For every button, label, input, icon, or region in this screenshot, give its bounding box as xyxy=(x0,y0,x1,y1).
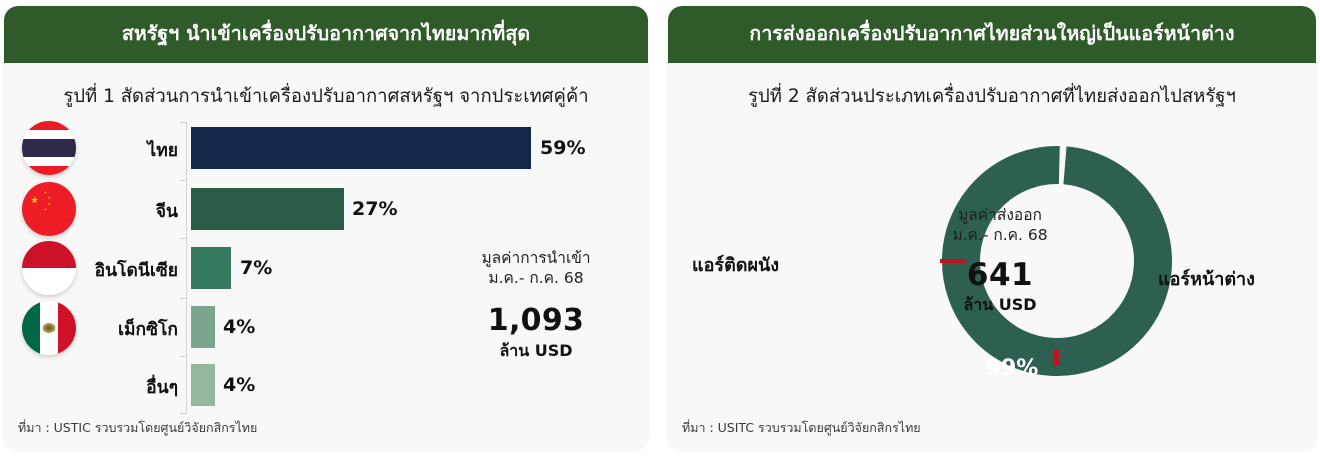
bar-value-label: 27% xyxy=(352,198,397,220)
right-source-note: ที่มา : USITC รวบรวมโดยศูนย์วิจัยกสิกรไท… xyxy=(682,418,921,438)
export-value-caption-line1: มูลค่าส่งออก xyxy=(920,206,1080,226)
infographic-canvas: สหรัฐฯ นำเข้าเครื่องปรับอากาศจากไทยมากที… xyxy=(0,0,1320,457)
bar-category-label: ไทย xyxy=(84,136,178,164)
right-chart-panel: การส่งออกเครื่องปรับอากาศไทยส่วนใหญ่เป็น… xyxy=(668,6,1316,451)
bar-category-label: อินโดนีเซีย xyxy=(84,256,178,284)
donut-label-window-type: แอร์หน้าต่าง xyxy=(1158,264,1255,293)
left-panel-header-title: สหรัฐฯ นำเข้าเครื่องปรับอากาศจากไทยมากที… xyxy=(122,22,530,46)
import-value-callout: มูลค่าการนำเข้า ม.ค.- ก.ค. 68 1,093 ล้าน… xyxy=(436,249,636,364)
bar-value-label: 4% xyxy=(223,374,255,396)
bar-china xyxy=(191,188,344,230)
bar-category-label: เม็กซิโก xyxy=(84,315,178,343)
bar-mexico xyxy=(191,306,215,348)
bar-value-label: 59% xyxy=(540,137,585,159)
thailand-flag-icon xyxy=(22,121,76,175)
import-value-caption-line2: ม.ค.- ก.ค. 68 xyxy=(436,269,636,289)
indonesia-flag-icon xyxy=(22,241,76,295)
donut-label-wall-type: แอร์ติดผนัง xyxy=(692,250,779,279)
bar-row: ไทย 59% xyxy=(4,118,648,178)
bar-category-label: อื่นๆ xyxy=(84,373,178,401)
bar-row: อื่นๆ 4% xyxy=(4,356,648,414)
bar-indonesia xyxy=(191,247,231,289)
export-value-caption-line2: ม.ค.- ก.ค. 68 xyxy=(920,226,1080,246)
bar-value-label: 7% xyxy=(240,257,272,279)
donut-slice-percent-window: 99% xyxy=(938,356,1086,381)
import-value-number: 1,093 xyxy=(436,303,636,338)
bar-others xyxy=(191,364,215,406)
donut-center-callout: มูลค่าส่งออก ม.ค.- ก.ค. 68 641 ล้าน USD xyxy=(920,206,1080,318)
import-value-caption-line1: มูลค่าการนำเข้า xyxy=(436,249,636,269)
export-value-number: 641 xyxy=(920,257,1080,293)
left-figure-title: รูปที่ 1 สัดส่วนการนำเข้าเครื่องปรับอากา… xyxy=(4,85,648,109)
bar-value-label: 4% xyxy=(223,316,255,338)
bar-category-label: จีน xyxy=(84,197,178,225)
bar-row: จีน 27% xyxy=(4,178,648,238)
left-panel-header: สหรัฐฯ นำเข้าเครื่องปรับอากาศจากไทยมากที… xyxy=(4,6,648,63)
bar-thailand xyxy=(191,127,531,169)
donut-chart: มูลค่าส่งออก ม.ค.- ก.ค. 68 641 ล้าน USD … xyxy=(668,6,1316,451)
china-flag-icon xyxy=(22,182,76,236)
mexico-flag-icon xyxy=(22,301,76,355)
left-source-note: ที่มา : USTIC รวบรวมโดยศูนย์วิจัยกสิกรไท… xyxy=(18,418,257,438)
left-chart-panel: สหรัฐฯ นำเข้าเครื่องปรับอากาศจากไทยมากที… xyxy=(4,6,648,451)
import-value-unit: ล้าน USD xyxy=(436,339,636,364)
export-value-unit: ล้าน USD xyxy=(920,293,1080,318)
